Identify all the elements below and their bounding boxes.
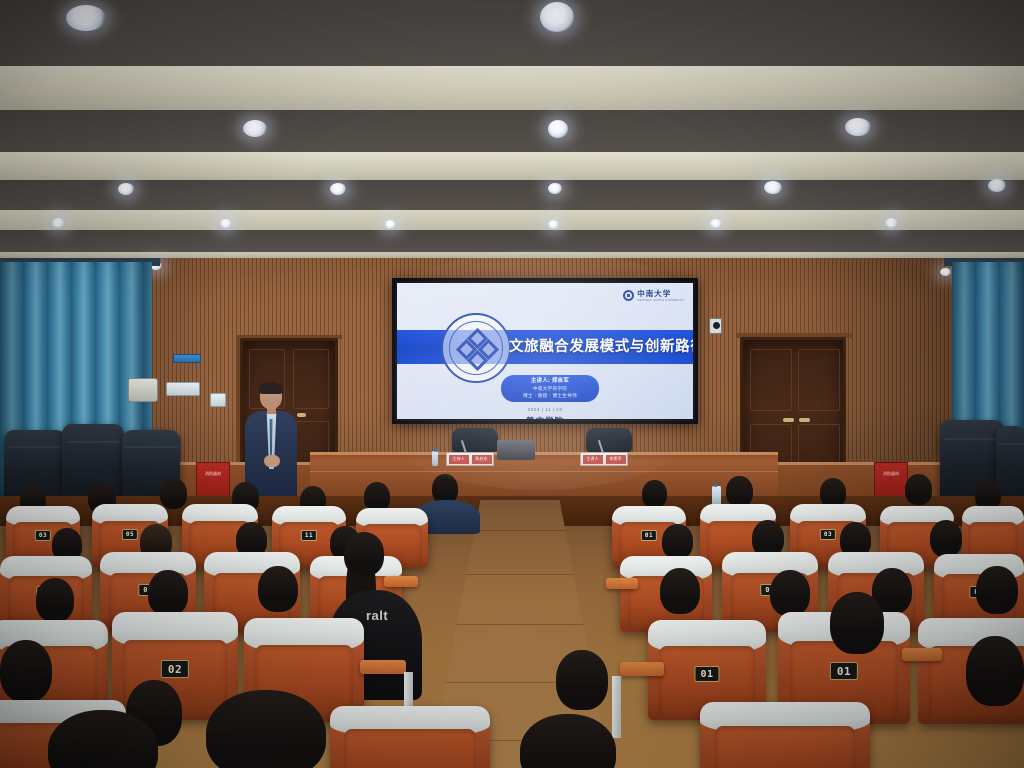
audience-head bbox=[0, 640, 52, 702]
seat-number: 11 bbox=[301, 530, 317, 541]
downlight-icon bbox=[548, 120, 568, 138]
seat-armrest-tablet[interactable] bbox=[620, 662, 664, 676]
downlight-icon bbox=[52, 218, 65, 228]
slide-speaker-affiliation: 中南大学商学院 bbox=[501, 385, 599, 392]
university-emblem-icon bbox=[441, 313, 511, 383]
tshirt-graphic: ralt bbox=[366, 608, 388, 623]
seat-number: 02 bbox=[161, 660, 189, 678]
water-bottle bbox=[432, 451, 438, 466]
audience-head bbox=[726, 476, 753, 507]
seat-number: 01 bbox=[694, 666, 719, 682]
downlight-icon bbox=[885, 218, 898, 228]
wall-control-panel[interactable] bbox=[128, 378, 158, 402]
downlight-icon bbox=[845, 118, 871, 136]
slide-date: 2024 | 11 | 23 bbox=[397, 407, 693, 412]
placard-name: 李建军 bbox=[606, 455, 626, 464]
audience-head bbox=[556, 650, 608, 710]
placard-role: 主持人 bbox=[449, 455, 469, 464]
seat-number: 01 bbox=[830, 662, 858, 680]
audience-head bbox=[966, 636, 1024, 706]
downlight-icon bbox=[764, 181, 782, 194]
wall-switch-plate[interactable] bbox=[210, 393, 226, 407]
audience-head bbox=[36, 578, 74, 622]
seat-number: 01 bbox=[641, 530, 657, 541]
ceiling-band-light-3 bbox=[0, 210, 1024, 232]
university-logo: 中南大学 CENTRAL SOUTH UNIVERSITY bbox=[623, 288, 685, 302]
university-logo-mark-icon bbox=[623, 290, 634, 301]
seat-armrest-tablet[interactable] bbox=[384, 576, 418, 587]
door-handle-icon[interactable] bbox=[799, 418, 810, 422]
audience-head bbox=[830, 592, 884, 654]
downlight-icon bbox=[940, 268, 951, 276]
audience-head bbox=[206, 690, 326, 768]
audience-head bbox=[905, 474, 932, 505]
downlight-icon bbox=[548, 183, 562, 194]
ceiling-band-dark-2 bbox=[0, 110, 1024, 154]
auditorium-seat[interactable] bbox=[330, 706, 490, 768]
audience-head bbox=[344, 532, 384, 576]
seat-support-leg bbox=[612, 676, 621, 738]
seat-armrest-tablet[interactable] bbox=[606, 578, 638, 589]
presentation-slide: 中南大学 CENTRAL SOUTH UNIVERSITY 文旅融合发展模式与创… bbox=[397, 283, 693, 419]
audience-head bbox=[160, 478, 187, 509]
lecture-hall-photo: 中南大学 CENTRAL SOUTH UNIVERSITY 文旅融合发展模式与创… bbox=[0, 0, 1024, 768]
slide-title: 文旅融合发展模式与创新路径 bbox=[509, 334, 687, 361]
door-panel bbox=[750, 349, 792, 411]
ceiling-band-dark-4 bbox=[0, 230, 1024, 252]
university-logo-text: 中南大学 bbox=[637, 288, 685, 299]
projection-screen: 中南大学 CENTRAL SOUTH UNIVERSITY 文旅融合发展模式与创… bbox=[392, 278, 698, 424]
slide-speaker-name: 主讲人: 郑自军 bbox=[501, 378, 599, 385]
downlight-icon bbox=[118, 183, 134, 195]
stage-chair[interactable] bbox=[586, 428, 632, 452]
audience-head bbox=[258, 566, 298, 612]
audience-head bbox=[660, 568, 700, 614]
seat-number: 03 bbox=[35, 530, 51, 541]
seat-number: 03 bbox=[820, 529, 836, 540]
name-placard-right: 主讲人 李建军 bbox=[580, 452, 628, 466]
security-camera-icon bbox=[709, 318, 722, 334]
downlight-icon bbox=[540, 2, 574, 32]
downlight-icon bbox=[385, 220, 396, 229]
audience-head bbox=[148, 570, 188, 616]
door-handle-icon[interactable] bbox=[783, 418, 794, 422]
audience-head bbox=[930, 520, 962, 557]
ceiling-band-dark-3 bbox=[0, 180, 1024, 212]
downlight-icon bbox=[220, 219, 232, 228]
downlight-icon bbox=[243, 120, 267, 137]
slide-speaker-titles: 博士 · 教授 · 博士生导师 bbox=[501, 392, 599, 399]
slide-host-org: 肇庆学院 bbox=[397, 415, 693, 419]
ceiling bbox=[0, 0, 1024, 268]
downlight-icon bbox=[710, 219, 722, 228]
emblem-core-icon bbox=[459, 331, 497, 369]
name-placard-left: 主持人 陈启东 bbox=[446, 452, 494, 466]
downlight-icon bbox=[66, 5, 106, 31]
audience-head bbox=[642, 480, 667, 508]
laptop-on-table[interactable] bbox=[497, 440, 535, 460]
audience-head bbox=[662, 524, 693, 559]
seat-back-pad bbox=[344, 729, 475, 768]
door-panel bbox=[798, 349, 840, 411]
seat-number: 05 bbox=[122, 529, 138, 540]
presenter-hands bbox=[264, 455, 280, 467]
ceiling-band-light-1 bbox=[0, 66, 1024, 112]
audience-head bbox=[976, 566, 1018, 614]
presenter-hair bbox=[259, 382, 283, 394]
audience-head bbox=[770, 570, 810, 616]
wall-sign-blue bbox=[173, 354, 201, 363]
seat-back-pad bbox=[715, 726, 854, 768]
ceiling-band-light-2 bbox=[0, 152, 1024, 182]
wall-notice-plate bbox=[166, 382, 200, 396]
downlight-icon bbox=[330, 183, 346, 195]
seat-armrest-tablet[interactable] bbox=[360, 660, 406, 674]
stage-chair[interactable] bbox=[452, 428, 498, 452]
university-logo-subtext: CENTRAL SOUTH UNIVERSITY bbox=[637, 299, 685, 302]
placard-name: 陈启东 bbox=[472, 455, 492, 464]
slide-speaker-block: 主讲人: 郑自军 中南大学商学院 博士 · 教授 · 博士生导师 bbox=[501, 375, 599, 402]
placard-role: 主讲人 bbox=[583, 455, 603, 464]
downlight-icon bbox=[548, 220, 559, 229]
downlight-icon bbox=[988, 179, 1006, 192]
auditorium-seat[interactable] bbox=[700, 702, 870, 768]
seat-armrest-tablet[interactable] bbox=[902, 648, 942, 661]
